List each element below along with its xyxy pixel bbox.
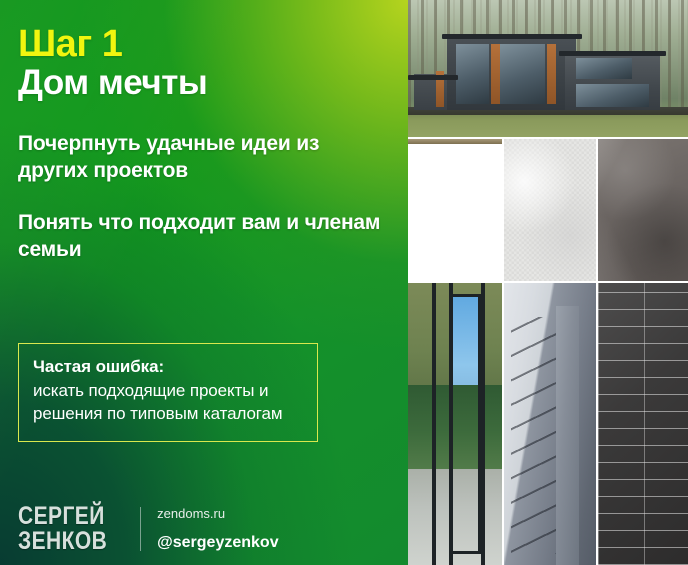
house-window-4 [576, 84, 649, 107]
metal-corner-column [556, 306, 580, 565]
gallery-row-house [408, 0, 688, 139]
house-wood-column-2 [547, 44, 557, 104]
bullet-list: Почерпнуть удачные идеи из других проект… [18, 130, 390, 263]
house-window-1 [456, 44, 490, 104]
slide-footer: СЕРГЕЙ ЗЕНКОВ zendoms.ru @sergeyzenkov [18, 505, 396, 553]
facade-mullion-2 [449, 283, 453, 565]
house-roof-main [442, 34, 582, 39]
left-panel-content: Шаг 1 Дом мечты Почерпнуть удачные идеи … [0, 0, 408, 565]
wood-slat-top-edge [408, 139, 502, 144]
glass-facade-photo[interactable] [408, 283, 502, 565]
wood-slat-material[interactable] [408, 139, 502, 281]
house-roof-right [559, 51, 665, 56]
glass-facade-illustration [408, 283, 502, 565]
image-gallery [408, 0, 688, 565]
author-logo: СЕРГЕЙ ЗЕНКОВ [18, 505, 138, 553]
presentation-slide: Шаг 1 Дом мечты Почерпнуть удачные идеи … [0, 0, 688, 565]
footer-divider [140, 507, 141, 551]
concrete-texture [504, 139, 596, 281]
logo-line-2: ЗЕНКОВ [18, 530, 107, 553]
bullet-item-1: Почерпнуть удачные идеи из других проект… [18, 130, 390, 184]
step-label: Шаг 1 [18, 26, 390, 63]
slide-subtitle: Дом мечты [18, 65, 390, 101]
light-concrete-material[interactable] [502, 139, 596, 281]
website-link[interactable]: zendoms.ru [157, 506, 278, 522]
gallery-row-materials [408, 139, 688, 283]
metal-panel-illustration [504, 283, 596, 565]
bullet-item-2: Понять что подходит вам и членам семьи [18, 209, 390, 263]
house-illustration [408, 0, 688, 137]
modern-house-photo[interactable] [408, 0, 688, 137]
dark-stone-material[interactable] [596, 139, 688, 281]
social-handle[interactable]: @sergeyzenkov [157, 533, 278, 552]
facade-window-frame [449, 294, 481, 553]
metal-seam-lines [511, 317, 559, 554]
stone-texture [598, 139, 688, 281]
gallery-row-facades [408, 283, 688, 565]
left-green-panel: Шаг 1 Дом мечты Почерпнуть удачные идеи … [0, 0, 408, 565]
brick-texture [598, 283, 688, 565]
house-window-3 [576, 58, 632, 80]
footer-contacts: zendoms.ru @sergeyzenkov [157, 506, 278, 552]
facade-mullion-3 [481, 283, 485, 565]
facade-mullion-1 [432, 283, 436, 565]
dark-brick-photo[interactable] [596, 283, 688, 565]
house-window-2 [500, 44, 545, 104]
house-roof-left [408, 75, 458, 80]
metal-panel-photo[interactable] [502, 283, 596, 565]
logo-line-1: СЕРГЕЙ [18, 505, 107, 528]
house-wood-column-1 [491, 44, 501, 104]
wood-slat-texture [408, 139, 502, 281]
